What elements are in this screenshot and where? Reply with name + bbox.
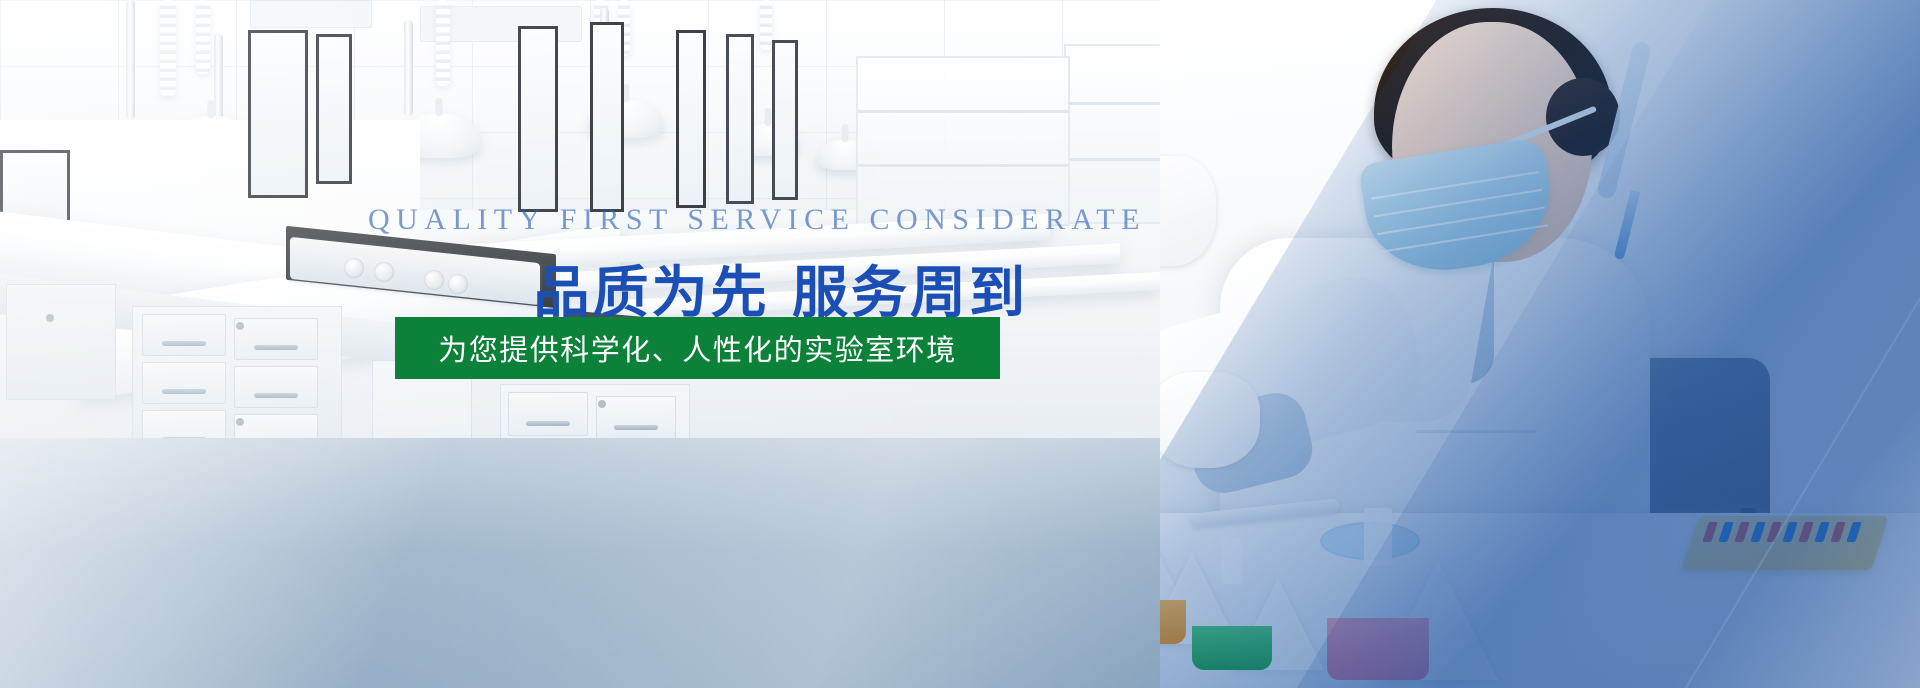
drawer (142, 314, 226, 356)
extraction-duct (436, 0, 450, 86)
support-arm (126, 0, 135, 120)
banner-eyebrow: QUALITY FIRST SERVICE CONSIDERATE (368, 203, 1028, 237)
window-pane (316, 34, 352, 184)
drawer (142, 362, 226, 404)
window-pane (590, 22, 624, 212)
window-pane (248, 30, 308, 198)
drawer (234, 366, 318, 408)
gloved-hand (1160, 372, 1260, 468)
window-pane (518, 26, 558, 212)
banner-subtitle-bar: 为您提供科学化、人性化的实验室环境 (395, 317, 1000, 379)
scientist-scene (1160, 0, 1920, 688)
test-tube-rack (1681, 516, 1889, 570)
ceiling-panel (250, 0, 372, 28)
extraction-duct (196, 0, 210, 74)
bench-knob (344, 258, 364, 278)
extraction-duct (760, 0, 772, 50)
support-arm (404, 20, 413, 116)
drawer (508, 392, 588, 436)
banner-subtitle-text: 为您提供科学化、人性化的实验室环境 (438, 327, 957, 369)
cabinet-lock (598, 400, 606, 408)
cabinet-lock (46, 314, 54, 322)
floor-reflection (0, 438, 1200, 688)
drawer (596, 396, 676, 440)
cabinet-lock (236, 322, 244, 330)
wall-shelf-unit (856, 56, 1070, 226)
base-cabinet (6, 284, 116, 400)
support-arm (214, 34, 223, 122)
extraction-duct (160, 0, 176, 96)
window-pane (676, 30, 706, 208)
window-pane (726, 34, 754, 204)
cabinet-lock (236, 418, 244, 426)
window-pane (772, 40, 798, 200)
drawer (234, 318, 318, 360)
coat-pocket (1416, 430, 1536, 433)
hero-banner: QUALITY FIRST SERVICE CONSIDERATE 品质为先 服… (0, 0, 1920, 688)
lab-floor (0, 438, 1200, 688)
